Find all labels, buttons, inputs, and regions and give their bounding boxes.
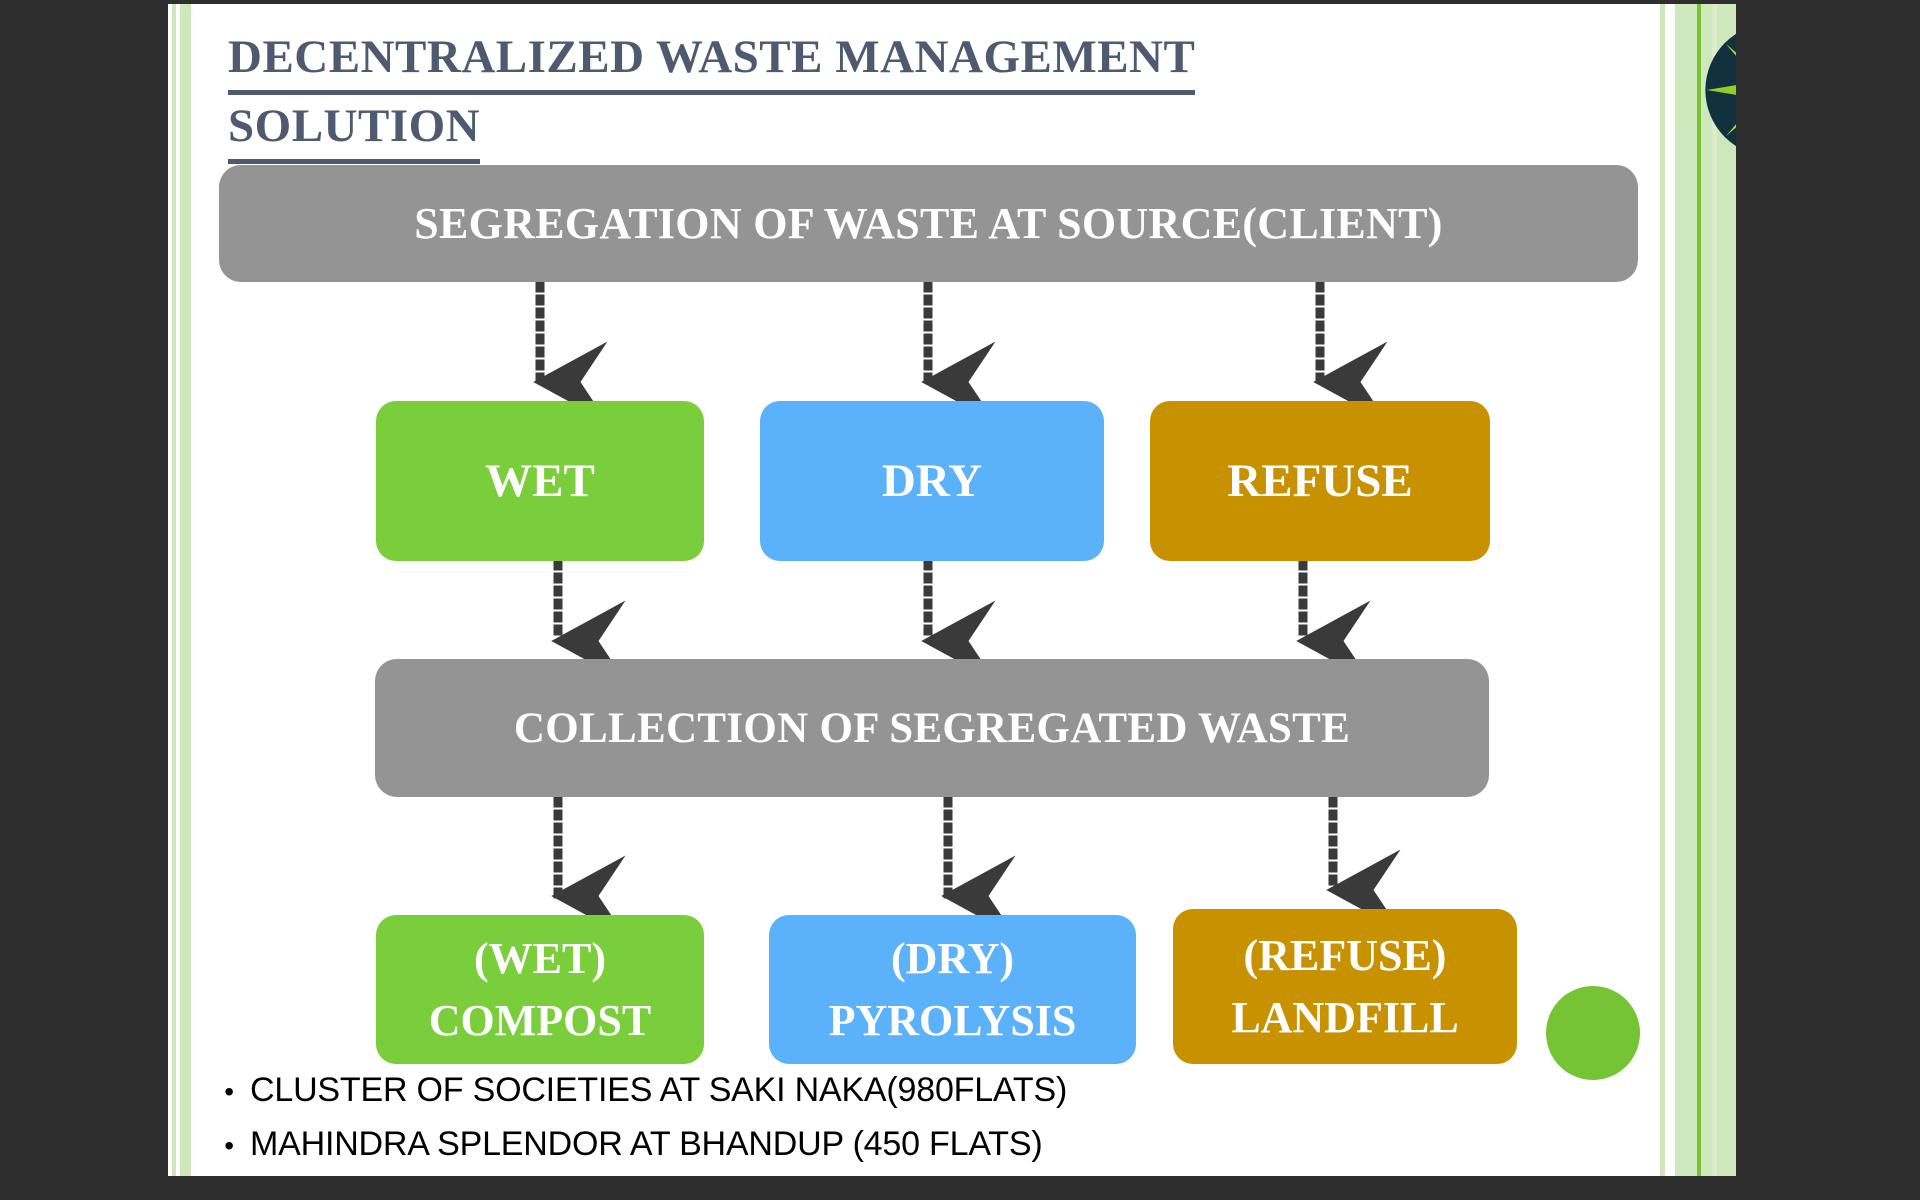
- flow-box-refuse[interactable]: REFUSE: [1150, 401, 1490, 561]
- flow-box-collection-of-segregated-waste[interactable]: COLLECTION OF SEGREGATED WASTE: [375, 659, 1489, 797]
- bullet-marker-icon: •: [208, 1119, 250, 1172]
- flow-box-refuse-landfill[interactable]: (REFUSE) LANDFILL: [1173, 909, 1517, 1064]
- flow-box-label-line-1: (WET): [429, 928, 651, 990]
- flow-box-label: SEGREGATION OF WASTE AT SOURCE(CLIENT): [414, 198, 1443, 249]
- flow-box-label: COLLECTION OF SEGREGATED WASTE: [514, 704, 1350, 753]
- slide-canvas: DECENTRALIZED WASTE MANAGEMENT SOLUTION: [168, 4, 1736, 1176]
- flow-box-label: REFUSE: [1227, 454, 1412, 508]
- screenshot-root: DECENTRALIZED WASTE MANAGEMENT SOLUTION: [0, 0, 1920, 1200]
- flow-box-label-line-2: PYROLYSIS: [829, 990, 1077, 1052]
- list-item-label: MAHINDRA SPLENDOR AT BHANDUP (450 FLATS): [250, 1118, 1042, 1171]
- flow-box-wet[interactable]: WET: [376, 401, 704, 561]
- flow-box-segregation-at-source[interactable]: SEGREGATION OF WASTE AT SOURCE(CLIENT): [219, 165, 1638, 282]
- flow-box-label-line-2: COMPOST: [429, 990, 651, 1052]
- list-item[interactable]: • MAHINDRA SPLENDOR AT BHANDUP (450 FLAT…: [208, 1118, 1408, 1172]
- flow-box-label-line-1: (REFUSE): [1231, 925, 1458, 987]
- flow-box-label: DRY: [882, 454, 982, 508]
- bullet-marker-icon: •: [208, 1065, 250, 1118]
- flow-box-label-line-2: LANDFILL: [1231, 987, 1458, 1049]
- green-accent-circle: [1546, 986, 1640, 1080]
- flow-box-dry[interactable]: DRY: [760, 401, 1104, 561]
- flow-box-dry-pyrolysis[interactable]: (DRY) PYROLYSIS: [769, 915, 1136, 1064]
- list-item[interactable]: • CLUSTER OF SOCIETIES AT SAKI NAKA(980F…: [208, 1064, 1408, 1118]
- list-item-label: CLUSTER OF SOCIETIES AT SAKI NAKA(980FLA…: [250, 1064, 1067, 1117]
- flow-box-label: WET: [485, 454, 595, 508]
- flow-box-wet-compost[interactable]: (WET) COMPOST: [376, 915, 704, 1064]
- bullet-list: • CLUSTER OF SOCIETIES AT SAKI NAKA(980F…: [208, 1064, 1408, 1172]
- flow-box-label-line-1: (DRY): [829, 928, 1077, 990]
